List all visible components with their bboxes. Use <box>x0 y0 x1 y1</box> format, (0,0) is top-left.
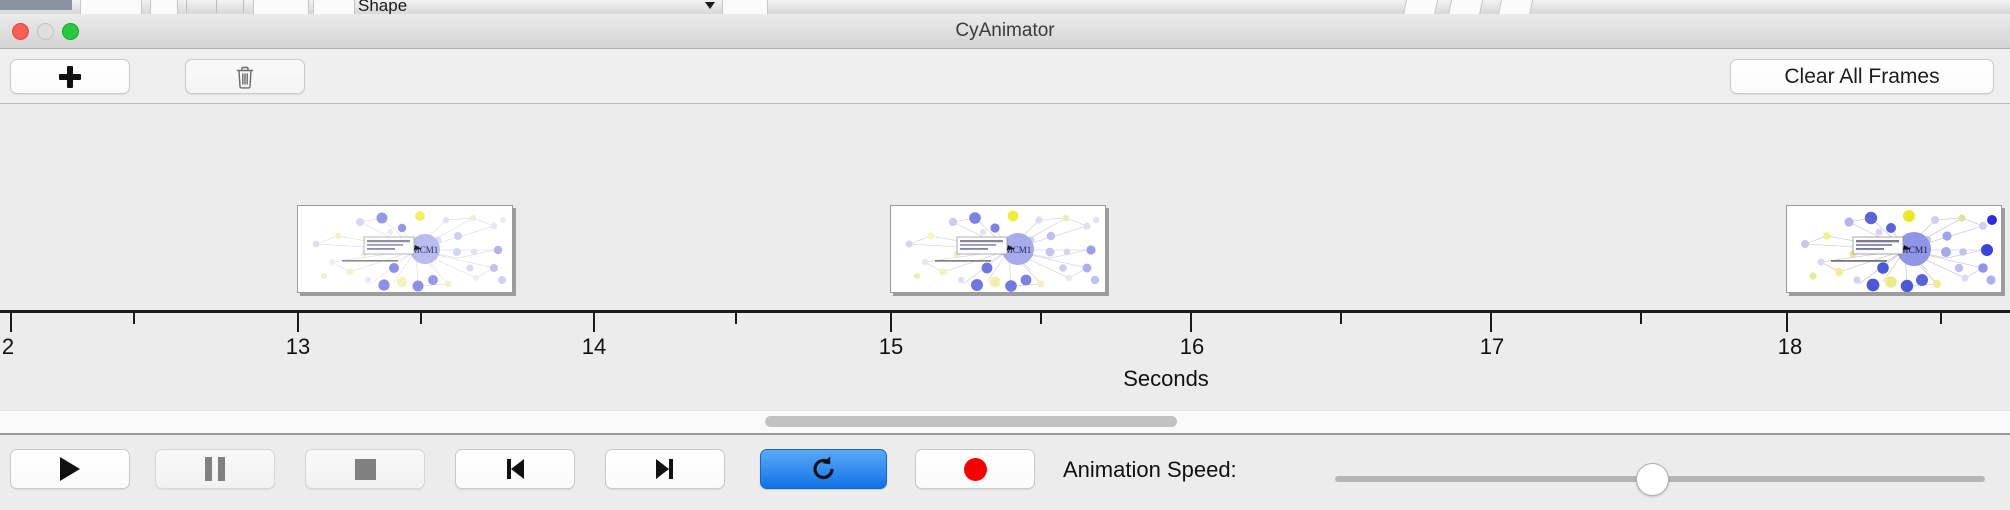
clear-all-frames-label: Clear All Frames <box>1784 65 1939 89</box>
network-preview: MCM1 <box>1787 206 2002 293</box>
timeline-ruler[interactable]: 2 13 14 15 16 17 18 Seconds <box>0 310 2010 410</box>
add-frame-button[interactable] <box>10 59 130 94</box>
skip-back-icon <box>502 457 528 481</box>
background-toolbar-chip-7 <box>1448 0 1485 15</box>
stop-icon <box>355 459 376 480</box>
ruler-tick-minor <box>1640 313 1642 324</box>
loop-button[interactable] <box>760 449 887 489</box>
scrollbar-thumb[interactable] <box>765 416 1177 427</box>
frame-thumbnail[interactable]: MCM1 <box>297 205 513 293</box>
window-title: CyAnimator <box>0 20 2010 42</box>
ruler-tick-major <box>1190 313 1192 332</box>
frame-thumbnail[interactable]: MCM1 <box>890 205 1106 293</box>
clear-all-frames-button[interactable]: Clear All Frames <box>1730 59 1994 94</box>
ruler-axis-title: Seconds <box>1123 366 1209 392</box>
animation-speed-slider-thumb[interactable] <box>1636 463 1669 496</box>
network-preview: MCM1 <box>298 206 513 293</box>
background-titlebar-chip <box>0 0 72 10</box>
background-divider-1 <box>186 0 187 13</box>
ruler-tick-label: 16 <box>1180 334 1204 360</box>
delete-frame-button[interactable] <box>185 59 305 94</box>
ruler-tick-minor <box>1940 313 1942 324</box>
window-titlebar[interactable]: CyAnimator <box>0 14 2010 49</box>
play-button[interactable] <box>10 449 130 489</box>
background-toolbar-chip-5 <box>722 0 768 15</box>
ruler-tick-label: 2 <box>2 334 14 360</box>
ruler-tick-major <box>593 313 595 332</box>
ruler-tick-label: 17 <box>1480 334 1504 360</box>
pause-icon <box>205 457 225 481</box>
prev-frame-button[interactable] <box>455 449 575 489</box>
ruler-tick-minor <box>735 313 737 324</box>
background-divider-3 <box>243 0 244 13</box>
ruler-tick-major <box>1786 313 1788 332</box>
skip-forward-icon <box>652 457 678 481</box>
background-app-strip: Shape <box>0 0 2010 15</box>
background-toolbar-chip-2 <box>150 0 178 15</box>
playback-controls-bar: Animation Speed: <box>0 435 2010 510</box>
background-toolbar-chip-8 <box>1498 0 1535 15</box>
ruler-tick-label: 15 <box>879 334 903 360</box>
ruler-tick-major <box>297 313 299 332</box>
ruler-baseline <box>0 310 2010 313</box>
ruler-tick-label: 14 <box>582 334 606 360</box>
record-button[interactable] <box>915 449 1035 489</box>
background-clipped-label: Shape <box>358 0 407 15</box>
ruler-tick-major <box>1490 313 1492 332</box>
stop-button[interactable] <box>305 449 425 489</box>
background-toolbar-chip-3 <box>253 0 309 15</box>
ruler-tick-label: 13 <box>286 334 310 360</box>
background-toolbar-chip-1 <box>80 0 142 15</box>
frames-timeline-area[interactable]: MCM1 <box>0 104 2010 310</box>
loop-icon <box>809 455 839 483</box>
ruler-tick-minor <box>1340 313 1342 324</box>
plus-icon <box>59 66 81 88</box>
background-toolbar-chip-6 <box>1403 0 1440 15</box>
animation-speed-label: Animation Speed: <box>1063 457 1237 483</box>
frame-thumbnail[interactable]: MCM1 <box>1786 205 2002 293</box>
play-icon <box>60 457 80 481</box>
ruler-tick-label: 18 <box>1778 334 1802 360</box>
background-divider-2 <box>216 0 217 13</box>
pause-button[interactable] <box>155 449 275 489</box>
background-caret-icon <box>705 2 715 9</box>
ruler-tick-minor <box>133 313 135 324</box>
next-frame-button[interactable] <box>605 449 725 489</box>
record-icon <box>964 458 987 481</box>
trash-icon <box>235 65 255 89</box>
background-toolbar-chip-4 <box>313 0 355 15</box>
frame-toolbar: Clear All Frames <box>0 49 2010 104</box>
ruler-tick-major <box>10 313 12 332</box>
ruler-tick-minor <box>420 313 422 324</box>
network-preview: MCM1 <box>891 206 1106 293</box>
cyanimator-window: CyAnimator Clear All Frames <box>0 14 2010 510</box>
timeline-scrollbar[interactable] <box>0 410 2010 435</box>
ruler-tick-minor <box>1040 313 1042 324</box>
ruler-tick-major <box>890 313 892 332</box>
